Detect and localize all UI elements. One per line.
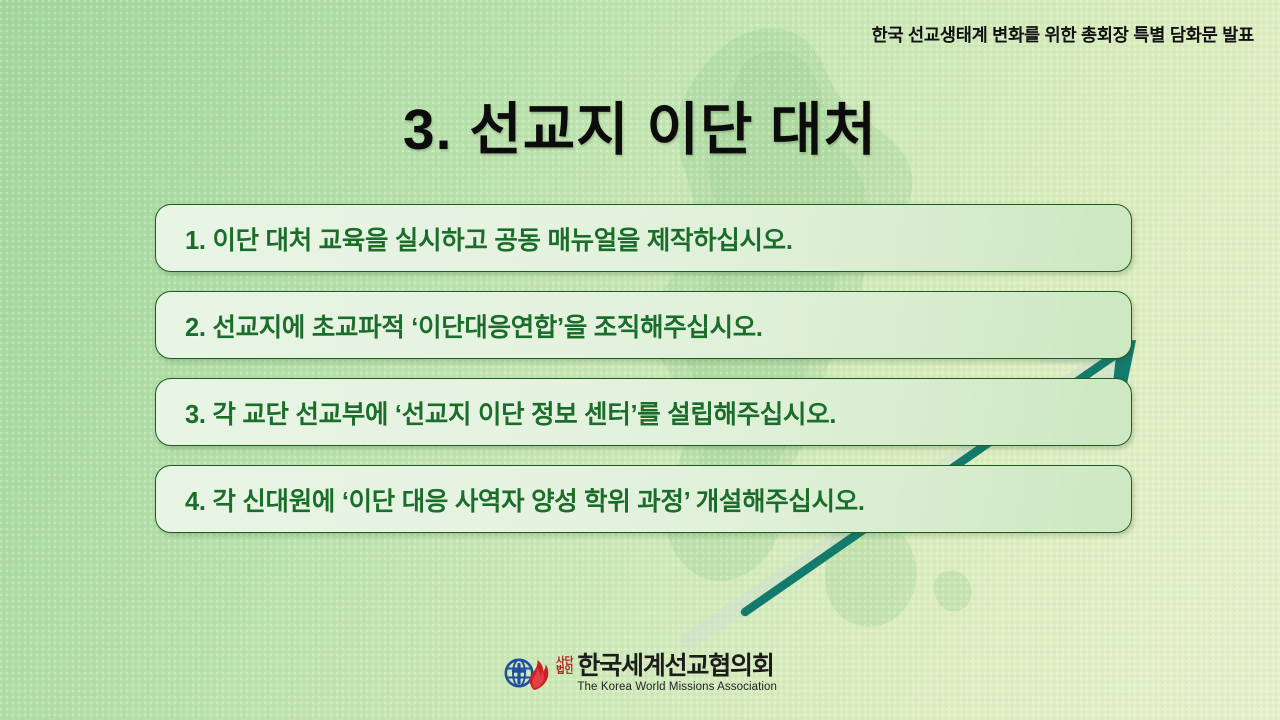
logo-name-korean: 한국세계선교협의회 xyxy=(577,654,777,679)
bullet-item-3: 3. 각 교단 선교부에 ‘선교지 이단 정보 센터’를 설립해주십시오. xyxy=(155,378,1132,446)
bullet-item-3-label: 3. 각 교단 선교부에 ‘선교지 이단 정보 센터’를 설립해주십시오. xyxy=(156,394,836,431)
bullet-list: 1. 이단 대처 교육을 실시하고 공동 매뉴얼을 제작하십시오. 2. 선교지… xyxy=(155,204,1132,533)
globe-cross-flame-icon xyxy=(503,652,549,694)
logo-prefix: 사단 법인 xyxy=(556,654,573,677)
logo-name-block: 한국세계선교협의회 The Korea World Missions Assoc… xyxy=(577,654,777,693)
bullet-item-1: 1. 이단 대처 교육을 실시하고 공동 매뉴얼을 제작하십시오. xyxy=(155,204,1132,272)
header-note: 한국 선교생태계 변화를 위한 총회장 특별 담화문 발표 xyxy=(872,22,1254,47)
page-title: 3. 선교지 이단 대처 xyxy=(0,84,1280,166)
logo-prefix-line-2: 법인 xyxy=(556,666,573,676)
bullet-item-1-label: 1. 이단 대처 교육을 실시하고 공동 매뉴얼을 제작하십시오. xyxy=(156,220,793,257)
bullet-item-2: 2. 선교지에 초교파적 ‘이단대응연합’을 조직해주십시오. xyxy=(155,291,1132,359)
bullet-item-4-label: 4. 각 신대원에 ‘이단 대응 사역자 양성 학위 과정’ 개설해주십시오. xyxy=(156,481,865,518)
bullet-item-4: 4. 각 신대원에 ‘이단 대응 사역자 양성 학위 과정’ 개설해주십시오. xyxy=(155,465,1132,533)
footer-logo: 사단 법인 한국세계선교협의회 The Korea World Missions… xyxy=(0,652,1280,694)
logo-wordmark: 사단 법인 한국세계선교협의회 The Korea World Missions… xyxy=(556,654,777,693)
presentation-slide: 한국 선교생태계 변화를 위한 총회장 특별 담화문 발표 3. 선교지 이단 … xyxy=(0,0,1280,720)
bullet-item-2-label: 2. 선교지에 초교파적 ‘이단대응연합’을 조직해주십시오. xyxy=(156,307,763,344)
logo-name-english: The Korea World Missions Association xyxy=(577,681,777,693)
